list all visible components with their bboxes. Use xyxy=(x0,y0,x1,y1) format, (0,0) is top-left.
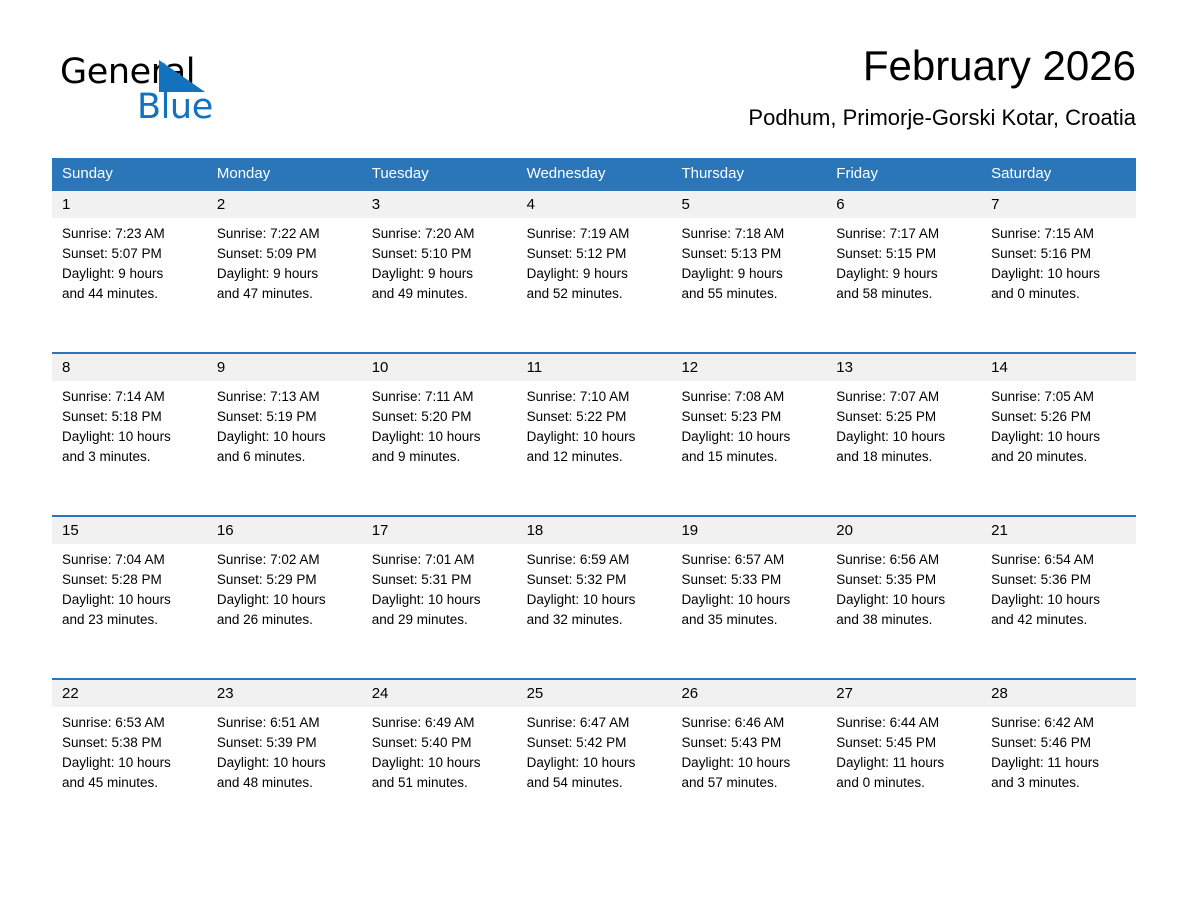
daylight-text-line2: and 49 minutes. xyxy=(372,284,509,304)
daylight-text-line2: and 26 minutes. xyxy=(217,610,354,630)
day-info: Sunrise: 6:47 AM Sunset: 5:42 PM Dayligh… xyxy=(517,707,672,793)
daylight-text-line1: Daylight: 10 hours xyxy=(527,427,664,447)
daylight-text-line2: and 23 minutes. xyxy=(62,610,199,630)
sunrise-text: Sunrise: 6:42 AM xyxy=(991,713,1128,733)
weekday-header-saturday: Saturday xyxy=(981,158,1136,189)
daylight-text-line1: Daylight: 9 hours xyxy=(62,264,199,284)
daylight-text-line1: Daylight: 11 hours xyxy=(991,753,1128,773)
weekday-header-sunday: Sunday xyxy=(52,158,207,189)
day-number-band: 2 xyxy=(207,191,362,218)
day-number: 23 xyxy=(207,680,362,707)
day-number: 13 xyxy=(826,354,981,381)
day-number-band: 12 xyxy=(671,354,826,381)
day-info: Sunrise: 7:05 AM Sunset: 5:26 PM Dayligh… xyxy=(981,381,1136,467)
daylight-text-line1: Daylight: 11 hours xyxy=(836,753,973,773)
daylight-text-line2: and 51 minutes. xyxy=(372,773,509,793)
sunset-text: Sunset: 5:23 PM xyxy=(681,407,818,427)
day-info: Sunrise: 7:13 AM Sunset: 5:19 PM Dayligh… xyxy=(207,381,362,467)
day-number: 27 xyxy=(826,680,981,707)
day-number: 5 xyxy=(671,191,826,218)
day-number: 22 xyxy=(52,680,207,707)
day-cell[interactable]: 19 Sunrise: 6:57 AM Sunset: 5:33 PM Dayl… xyxy=(671,517,826,678)
daylight-text-line1: Daylight: 10 hours xyxy=(62,427,199,447)
day-cell[interactable]: 3 Sunrise: 7:20 AM Sunset: 5:10 PM Dayli… xyxy=(362,191,517,352)
day-cell[interactable]: 4 Sunrise: 7:19 AM Sunset: 5:12 PM Dayli… xyxy=(517,191,672,352)
day-info: Sunrise: 6:49 AM Sunset: 5:40 PM Dayligh… xyxy=(362,707,517,793)
day-cell[interactable]: 1 Sunrise: 7:23 AM Sunset: 5:07 PM Dayli… xyxy=(52,191,207,352)
daylight-text-line1: Daylight: 10 hours xyxy=(527,753,664,773)
sunset-text: Sunset: 5:07 PM xyxy=(62,244,199,264)
day-number: 9 xyxy=(207,354,362,381)
sunset-text: Sunset: 5:13 PM xyxy=(681,244,818,264)
daylight-text-line2: and 47 minutes. xyxy=(217,284,354,304)
sunrise-text: Sunrise: 7:02 AM xyxy=(217,550,354,570)
daylight-text-line1: Daylight: 9 hours xyxy=(836,264,973,284)
day-info: Sunrise: 7:04 AM Sunset: 5:28 PM Dayligh… xyxy=(52,544,207,630)
day-info: Sunrise: 7:15 AM Sunset: 5:16 PM Dayligh… xyxy=(981,218,1136,304)
daylight-text-line1: Daylight: 10 hours xyxy=(217,590,354,610)
sunrise-text: Sunrise: 6:56 AM xyxy=(836,550,973,570)
daylight-text-line1: Daylight: 10 hours xyxy=(372,590,509,610)
sunrise-text: Sunrise: 7:01 AM xyxy=(372,550,509,570)
generalblue-logo[interactable]: General Blue xyxy=(60,52,290,136)
daylight-text-line2: and 48 minutes. xyxy=(217,773,354,793)
daylight-text-line2: and 0 minutes. xyxy=(836,773,973,793)
daylight-text-line2: and 57 minutes. xyxy=(681,773,818,793)
sunrise-text: Sunrise: 6:59 AM xyxy=(527,550,664,570)
day-number: 14 xyxy=(981,354,1136,381)
sunrise-text: Sunrise: 7:04 AM xyxy=(62,550,199,570)
daylight-text-line1: Daylight: 10 hours xyxy=(991,427,1128,447)
daylight-text-line1: Daylight: 10 hours xyxy=(372,427,509,447)
day-number-band: 6 xyxy=(826,191,981,218)
day-number-band: 7 xyxy=(981,191,1136,218)
day-cell[interactable]: 28 Sunrise: 6:42 AM Sunset: 5:46 PM Dayl… xyxy=(981,680,1136,841)
day-number: 16 xyxy=(207,517,362,544)
page-title: February 2026 xyxy=(376,40,1136,92)
sunset-text: Sunset: 5:22 PM xyxy=(527,407,664,427)
day-info: Sunrise: 6:51 AM Sunset: 5:39 PM Dayligh… xyxy=(207,707,362,793)
weekday-header-row: Sunday Monday Tuesday Wednesday Thursday… xyxy=(52,158,1136,189)
day-number: 4 xyxy=(517,191,672,218)
day-info: Sunrise: 7:19 AM Sunset: 5:12 PM Dayligh… xyxy=(517,218,672,304)
day-number-band: 28 xyxy=(981,680,1136,707)
logo-text-blue: Blue xyxy=(137,87,213,127)
day-number: 10 xyxy=(362,354,517,381)
daylight-text-line1: Daylight: 10 hours xyxy=(681,753,818,773)
sunset-text: Sunset: 5:29 PM xyxy=(217,570,354,590)
day-number-band: 16 xyxy=(207,517,362,544)
day-cell[interactable]: 15 Sunrise: 7:04 AM Sunset: 5:28 PM Dayl… xyxy=(52,517,207,678)
day-info: Sunrise: 7:22 AM Sunset: 5:09 PM Dayligh… xyxy=(207,218,362,304)
day-info: Sunrise: 6:57 AM Sunset: 5:33 PM Dayligh… xyxy=(671,544,826,630)
day-number: 6 xyxy=(826,191,981,218)
day-number-band: 17 xyxy=(362,517,517,544)
sunrise-text: Sunrise: 7:15 AM xyxy=(991,224,1128,244)
day-info: Sunrise: 7:23 AM Sunset: 5:07 PM Dayligh… xyxy=(52,218,207,304)
day-cell[interactable]: 25 Sunrise: 6:47 AM Sunset: 5:42 PM Dayl… xyxy=(517,680,672,841)
day-cell[interactable]: 23 Sunrise: 6:51 AM Sunset: 5:39 PM Dayl… xyxy=(207,680,362,841)
sunrise-text: Sunrise: 6:44 AM xyxy=(836,713,973,733)
day-number-band: 10 xyxy=(362,354,517,381)
daylight-text-line1: Daylight: 10 hours xyxy=(527,590,664,610)
day-number-band: 25 xyxy=(517,680,672,707)
day-cell[interactable]: 8 Sunrise: 7:14 AM Sunset: 5:18 PM Dayli… xyxy=(52,354,207,515)
day-info: Sunrise: 6:59 AM Sunset: 5:32 PM Dayligh… xyxy=(517,544,672,630)
day-cell[interactable]: 16 Sunrise: 7:02 AM Sunset: 5:29 PM Dayl… xyxy=(207,517,362,678)
sunrise-text: Sunrise: 7:17 AM xyxy=(836,224,973,244)
daylight-text-line1: Daylight: 10 hours xyxy=(836,427,973,447)
daylight-text-line2: and 3 minutes. xyxy=(62,447,199,467)
day-info: Sunrise: 6:46 AM Sunset: 5:43 PM Dayligh… xyxy=(671,707,826,793)
daylight-text-line2: and 20 minutes. xyxy=(991,447,1128,467)
daylight-text-line2: and 6 minutes. xyxy=(217,447,354,467)
day-cell[interactable]: 2 Sunrise: 7:22 AM Sunset: 5:09 PM Dayli… xyxy=(207,191,362,352)
weekday-header-friday: Friday xyxy=(826,158,981,189)
day-cell[interactable]: 24 Sunrise: 6:49 AM Sunset: 5:40 PM Dayl… xyxy=(362,680,517,841)
day-info: Sunrise: 7:10 AM Sunset: 5:22 PM Dayligh… xyxy=(517,381,672,467)
day-number: 28 xyxy=(981,680,1136,707)
day-cell[interactable]: 7 Sunrise: 7:15 AM Sunset: 5:16 PM Dayli… xyxy=(981,191,1136,352)
day-info: Sunrise: 6:44 AM Sunset: 5:45 PM Dayligh… xyxy=(826,707,981,793)
day-cell[interactable]: 17 Sunrise: 7:01 AM Sunset: 5:31 PM Dayl… xyxy=(362,517,517,678)
day-number-band: 13 xyxy=(826,354,981,381)
day-cell[interactable]: 5 Sunrise: 7:18 AM Sunset: 5:13 PM Dayli… xyxy=(671,191,826,352)
day-number-band: 4 xyxy=(517,191,672,218)
sunset-text: Sunset: 5:36 PM xyxy=(991,570,1128,590)
day-number: 11 xyxy=(517,354,672,381)
daylight-text-line2: and 3 minutes. xyxy=(991,773,1128,793)
sunset-text: Sunset: 5:39 PM xyxy=(217,733,354,753)
daylight-text-line2: and 45 minutes. xyxy=(62,773,199,793)
day-number-band: 8 xyxy=(52,354,207,381)
daylight-text-line1: Daylight: 10 hours xyxy=(681,590,818,610)
week-row: 22 Sunrise: 6:53 AM Sunset: 5:38 PM Dayl… xyxy=(52,678,1136,841)
sunset-text: Sunset: 5:33 PM xyxy=(681,570,818,590)
day-info: Sunrise: 6:54 AM Sunset: 5:36 PM Dayligh… xyxy=(981,544,1136,630)
sunset-text: Sunset: 5:20 PM xyxy=(372,407,509,427)
weekday-header-monday: Monday xyxy=(207,158,362,189)
day-number: 18 xyxy=(517,517,672,544)
day-number-band: 23 xyxy=(207,680,362,707)
page-header: General Blue February 2026 Podhum, Primo… xyxy=(52,40,1136,148)
sunrise-text: Sunrise: 7:18 AM xyxy=(681,224,818,244)
sunset-text: Sunset: 5:40 PM xyxy=(372,733,509,753)
sunset-text: Sunset: 5:38 PM xyxy=(62,733,199,753)
day-info: Sunrise: 7:11 AM Sunset: 5:20 PM Dayligh… xyxy=(362,381,517,467)
daylight-text-line2: and 29 minutes. xyxy=(372,610,509,630)
daylight-text-line2: and 55 minutes. xyxy=(681,284,818,304)
daylight-text-line1: Daylight: 10 hours xyxy=(991,590,1128,610)
sunset-text: Sunset: 5:12 PM xyxy=(527,244,664,264)
day-number: 12 xyxy=(671,354,826,381)
day-cell[interactable]: 18 Sunrise: 6:59 AM Sunset: 5:32 PM Dayl… xyxy=(517,517,672,678)
day-info: Sunrise: 6:56 AM Sunset: 5:35 PM Dayligh… xyxy=(826,544,981,630)
daylight-text-line2: and 38 minutes. xyxy=(836,610,973,630)
sunset-text: Sunset: 5:10 PM xyxy=(372,244,509,264)
sunrise-text: Sunrise: 7:07 AM xyxy=(836,387,973,407)
day-number-band: 22 xyxy=(52,680,207,707)
weekday-header-tuesday: Tuesday xyxy=(362,158,517,189)
title-block: February 2026 Podhum, Primorje-Gorski Ko… xyxy=(376,40,1136,132)
sunrise-text: Sunrise: 7:05 AM xyxy=(991,387,1128,407)
daylight-text-line2: and 58 minutes. xyxy=(836,284,973,304)
sunrise-text: Sunrise: 6:51 AM xyxy=(217,713,354,733)
day-cell[interactable]: 12 Sunrise: 7:08 AM Sunset: 5:23 PM Dayl… xyxy=(671,354,826,515)
daylight-text-line1: Daylight: 10 hours xyxy=(372,753,509,773)
day-info: Sunrise: 7:02 AM Sunset: 5:29 PM Dayligh… xyxy=(207,544,362,630)
day-cell[interactable]: 22 Sunrise: 6:53 AM Sunset: 5:38 PM Dayl… xyxy=(52,680,207,841)
calendar-grid: Sunday Monday Tuesday Wednesday Thursday… xyxy=(52,158,1136,841)
day-info: Sunrise: 6:53 AM Sunset: 5:38 PM Dayligh… xyxy=(52,707,207,793)
day-number-band: 27 xyxy=(826,680,981,707)
daylight-text-line1: Daylight: 10 hours xyxy=(836,590,973,610)
daylight-text-line1: Daylight: 10 hours xyxy=(217,427,354,447)
day-info: Sunrise: 7:14 AM Sunset: 5:18 PM Dayligh… xyxy=(52,381,207,467)
sunset-text: Sunset: 5:16 PM xyxy=(991,244,1128,264)
sunrise-text: Sunrise: 7:08 AM xyxy=(681,387,818,407)
daylight-text-line2: and 42 minutes. xyxy=(991,610,1128,630)
sunrise-text: Sunrise: 6:47 AM xyxy=(527,713,664,733)
day-cell[interactable]: 20 Sunrise: 6:56 AM Sunset: 5:35 PM Dayl… xyxy=(826,517,981,678)
day-number-band: 11 xyxy=(517,354,672,381)
day-cell[interactable]: 27 Sunrise: 6:44 AM Sunset: 5:45 PM Dayl… xyxy=(826,680,981,841)
day-number: 19 xyxy=(671,517,826,544)
day-info: Sunrise: 7:18 AM Sunset: 5:13 PM Dayligh… xyxy=(671,218,826,304)
day-number: 7 xyxy=(981,191,1136,218)
daylight-text-line2: and 35 minutes. xyxy=(681,610,818,630)
daylight-text-line2: and 32 minutes. xyxy=(527,610,664,630)
sunrise-text: Sunrise: 7:22 AM xyxy=(217,224,354,244)
sunrise-text: Sunrise: 7:13 AM xyxy=(217,387,354,407)
day-number-band: 5 xyxy=(671,191,826,218)
day-number-band: 9 xyxy=(207,354,362,381)
week-row: 15 Sunrise: 7:04 AM Sunset: 5:28 PM Dayl… xyxy=(52,515,1136,678)
daylight-text-line1: Daylight: 9 hours xyxy=(527,264,664,284)
day-cell[interactable]: 13 Sunrise: 7:07 AM Sunset: 5:25 PM Dayl… xyxy=(826,354,981,515)
sunset-text: Sunset: 5:46 PM xyxy=(991,733,1128,753)
daylight-text-line1: Daylight: 10 hours xyxy=(681,427,818,447)
day-number: 15 xyxy=(52,517,207,544)
day-number: 25 xyxy=(517,680,672,707)
day-number-band: 18 xyxy=(517,517,672,544)
daylight-text-line1: Daylight: 10 hours xyxy=(217,753,354,773)
daylight-text-line2: and 54 minutes. xyxy=(527,773,664,793)
day-number-band: 1 xyxy=(52,191,207,218)
location-subtitle: Podhum, Primorje-Gorski Kotar, Croatia xyxy=(376,104,1136,132)
day-number: 17 xyxy=(362,517,517,544)
calendar-page: General Blue February 2026 Podhum, Primo… xyxy=(0,0,1188,918)
day-info: Sunrise: 7:17 AM Sunset: 5:15 PM Dayligh… xyxy=(826,218,981,304)
sunset-text: Sunset: 5:35 PM xyxy=(836,570,973,590)
sunset-text: Sunset: 5:26 PM xyxy=(991,407,1128,427)
day-number-band: 21 xyxy=(981,517,1136,544)
sunset-text: Sunset: 5:43 PM xyxy=(681,733,818,753)
week-row: 1 Sunrise: 7:23 AM Sunset: 5:07 PM Dayli… xyxy=(52,189,1136,352)
day-cell[interactable]: 9 Sunrise: 7:13 AM Sunset: 5:19 PM Dayli… xyxy=(207,354,362,515)
day-number-band: 20 xyxy=(826,517,981,544)
sunset-text: Sunset: 5:31 PM xyxy=(372,570,509,590)
daylight-text-line2: and 0 minutes. xyxy=(991,284,1128,304)
sunrise-text: Sunrise: 6:46 AM xyxy=(681,713,818,733)
sunrise-text: Sunrise: 7:19 AM xyxy=(527,224,664,244)
weekday-header-wednesday: Wednesday xyxy=(517,158,672,189)
daylight-text-line2: and 12 minutes. xyxy=(527,447,664,467)
day-cell[interactable]: 21 Sunrise: 6:54 AM Sunset: 5:36 PM Dayl… xyxy=(981,517,1136,678)
sunset-text: Sunset: 5:28 PM xyxy=(62,570,199,590)
sunset-text: Sunset: 5:42 PM xyxy=(527,733,664,753)
day-number-band: 15 xyxy=(52,517,207,544)
daylight-text-line2: and 9 minutes. xyxy=(372,447,509,467)
day-number-band: 19 xyxy=(671,517,826,544)
day-info: Sunrise: 7:07 AM Sunset: 5:25 PM Dayligh… xyxy=(826,381,981,467)
sunset-text: Sunset: 5:15 PM xyxy=(836,244,973,264)
sunrise-text: Sunrise: 6:53 AM xyxy=(62,713,199,733)
day-cell[interactable]: 10 Sunrise: 7:11 AM Sunset: 5:20 PM Dayl… xyxy=(362,354,517,515)
sunrise-text: Sunrise: 6:49 AM xyxy=(372,713,509,733)
sunrise-text: Sunrise: 7:14 AM xyxy=(62,387,199,407)
weekday-header-thursday: Thursday xyxy=(671,158,826,189)
sunrise-text: Sunrise: 7:11 AM xyxy=(372,387,509,407)
day-cell[interactable]: 14 Sunrise: 7:05 AM Sunset: 5:26 PM Dayl… xyxy=(981,354,1136,515)
daylight-text-line1: Daylight: 9 hours xyxy=(372,264,509,284)
day-number-band: 24 xyxy=(362,680,517,707)
day-number-band: 3 xyxy=(362,191,517,218)
day-info: Sunrise: 6:42 AM Sunset: 5:46 PM Dayligh… xyxy=(981,707,1136,793)
sunrise-text: Sunrise: 7:10 AM xyxy=(527,387,664,407)
day-number: 8 xyxy=(52,354,207,381)
sunrise-text: Sunrise: 7:23 AM xyxy=(62,224,199,244)
daylight-text-line2: and 52 minutes. xyxy=(527,284,664,304)
day-number: 1 xyxy=(52,191,207,218)
sunrise-text: Sunrise: 7:20 AM xyxy=(372,224,509,244)
daylight-text-line1: Daylight: 10 hours xyxy=(991,264,1128,284)
daylight-text-line1: Daylight: 10 hours xyxy=(62,590,199,610)
day-number: 24 xyxy=(362,680,517,707)
sunset-text: Sunset: 5:18 PM xyxy=(62,407,199,427)
day-number: 20 xyxy=(826,517,981,544)
day-cell[interactable]: 26 Sunrise: 6:46 AM Sunset: 5:43 PM Dayl… xyxy=(671,680,826,841)
day-info: Sunrise: 7:20 AM Sunset: 5:10 PM Dayligh… xyxy=(362,218,517,304)
sunset-text: Sunset: 5:45 PM xyxy=(836,733,973,753)
sunset-text: Sunset: 5:32 PM xyxy=(527,570,664,590)
day-number: 21 xyxy=(981,517,1136,544)
day-number: 3 xyxy=(362,191,517,218)
day-number: 2 xyxy=(207,191,362,218)
day-number: 26 xyxy=(671,680,826,707)
sunrise-text: Sunrise: 6:57 AM xyxy=(681,550,818,570)
day-cell[interactable]: 11 Sunrise: 7:10 AM Sunset: 5:22 PM Dayl… xyxy=(517,354,672,515)
daylight-text-line1: Daylight: 9 hours xyxy=(681,264,818,284)
sunset-text: Sunset: 5:09 PM xyxy=(217,244,354,264)
sunrise-text: Sunrise: 6:54 AM xyxy=(991,550,1128,570)
day-number-band: 26 xyxy=(671,680,826,707)
daylight-text-line2: and 15 minutes. xyxy=(681,447,818,467)
daylight-text-line1: Daylight: 10 hours xyxy=(62,753,199,773)
daylight-text-line1: Daylight: 9 hours xyxy=(217,264,354,284)
day-number-band: 14 xyxy=(981,354,1136,381)
daylight-text-line2: and 44 minutes. xyxy=(62,284,199,304)
week-row: 8 Sunrise: 7:14 AM Sunset: 5:18 PM Dayli… xyxy=(52,352,1136,515)
sunset-text: Sunset: 5:25 PM xyxy=(836,407,973,427)
sunset-text: Sunset: 5:19 PM xyxy=(217,407,354,427)
daylight-text-line2: and 18 minutes. xyxy=(836,447,973,467)
day-info: Sunrise: 7:01 AM Sunset: 5:31 PM Dayligh… xyxy=(362,544,517,630)
day-info: Sunrise: 7:08 AM Sunset: 5:23 PM Dayligh… xyxy=(671,381,826,467)
day-cell[interactable]: 6 Sunrise: 7:17 AM Sunset: 5:15 PM Dayli… xyxy=(826,191,981,352)
